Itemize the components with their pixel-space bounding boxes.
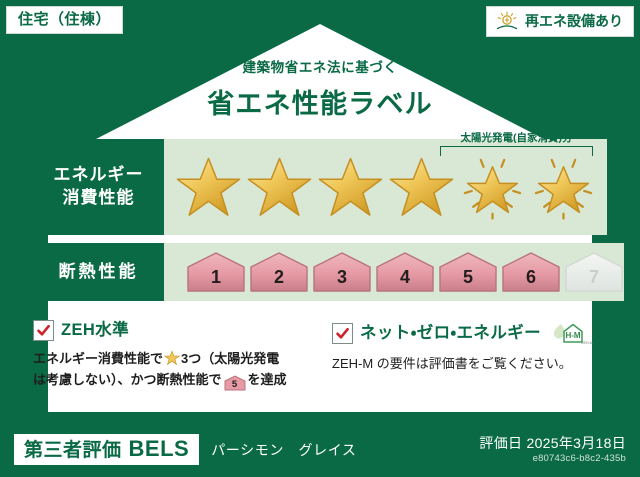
energy-performance-label: 住宅（住棟） 再エネ設備あり 建築物省エネ法に基づく 省エネ性能ラベル [0, 0, 640, 477]
inline-badge-value: 5 [224, 375, 246, 394]
insulation-badge-value: 5 [463, 268, 473, 293]
star-solar [529, 153, 598, 222]
zeh-criterion-header: ZEH水準 [33, 320, 320, 341]
insulation-badge-value: 2 [274, 268, 284, 293]
performance-rows: エネルギー 消費性能 [33, 139, 607, 309]
zeh-criterion: ZEH水準 エネルギー消費性能で3つ（太陽光発電 は考慮しない）、かつ断熱性能で… [33, 320, 320, 391]
insulation-badge-value: 6 [526, 268, 536, 293]
insulation-badge: 5 [438, 251, 498, 293]
building-type-label: 住宅（住棟） [18, 11, 111, 28]
inline-insulation-badge: 5 [224, 375, 246, 391]
net-zero-criterion: ネット・ゼロ・エネルギー H-M ZEH-M ZEH-M の要件は評価書をご覧く… [320, 320, 607, 391]
energy-performance-rating-cell: 太陽光発電(自家消費)分 [164, 139, 607, 235]
star-filled [387, 153, 456, 222]
net-zero-criterion-header: ネット・ゼロ・エネルギー H-M ZEH-M [332, 320, 607, 346]
label-title-block: 建築物省エネ法に基づく 省エネ性能ラベル [0, 56, 640, 121]
building-name: パーシモン グレイス [211, 440, 356, 460]
checkmark-icon [332, 323, 353, 344]
insulation-performance-row: 断熱性能 [33, 243, 607, 301]
insulation-badge-value: 1 [211, 268, 221, 293]
energy-label-line2: 消費性能 [63, 187, 135, 210]
renewable-equipment-chip: 再エネ設備あり [486, 6, 634, 37]
inline-star-icon [164, 350, 180, 366]
zeh-criterion-title: ZEH水準 [61, 322, 129, 339]
zeh-criterion-text: エネルギー消費性能で3つ（太陽光発電 は考慮しない）、かつ断熱性能で5を達成 [33, 348, 320, 391]
title-subtitle: 建築物省エネ法に基づく [0, 56, 640, 76]
label-footer: 第三者評価 BELS パーシモン グレイス 評価日 2025年3月18日 e80… [0, 422, 640, 477]
building-type-chip: 住宅（住棟） [6, 6, 123, 34]
renewable-equipment-label: 再エネ設備あり [525, 14, 623, 28]
evaluation-date: 評価日 2025年3月18日 [479, 435, 626, 453]
insulation-badge: 6 [501, 251, 561, 293]
net-zero-criterion-text: ZEH-M の要件は評価書をご覧ください。 [332, 353, 607, 374]
zeh-text-d: を達成 [248, 372, 287, 387]
star-filled [316, 153, 385, 222]
energy-performance-row: エネルギー 消費性能 [33, 139, 607, 235]
zeh-text-b: 3つ（太陽光発電 [181, 351, 279, 366]
insulation-badge: 1 [186, 251, 246, 293]
svg-text:H-M: H-M [565, 331, 580, 340]
star-filled [245, 153, 314, 222]
insulation-performance-label-cell: 断熱性能 [33, 243, 164, 301]
insulation-rating-cell: 1 2 3 [164, 243, 624, 301]
insulation-badge: 2 [249, 251, 309, 293]
insulation-badge-value: 7 [589, 268, 599, 293]
insulation-badge: 3 [312, 251, 372, 293]
svg-text:ZEH-M: ZEH-M [581, 341, 592, 345]
insulation-badge-value: 4 [400, 268, 410, 293]
energy-performance-label-cell: エネルギー 消費性能 [33, 139, 164, 235]
insulation-label: 断熱性能 [59, 261, 139, 284]
bels-en-label: BELS [129, 438, 190, 460]
checkmark-icon [33, 320, 54, 341]
zeh-text-a: エネルギー消費性能で [33, 351, 163, 366]
evaluation-info: 評価日 2025年3月18日 e80743c6-b8c2-435b [479, 435, 626, 464]
criteria-section: ZEH水準 エネルギー消費性能で3つ（太陽光発電 は考慮しない）、かつ断熱性能で… [33, 320, 607, 391]
zeh-m-logo-icon: H-M ZEH-M [551, 320, 593, 346]
energy-label-line1: エネルギー [54, 164, 144, 187]
net-zero-criterion-title: ネット・ゼロ・エネルギー [360, 325, 541, 342]
sun-icon [495, 11, 519, 31]
bels-jp-label: 第三者評価 [24, 441, 122, 460]
zeh-text-c: は考慮しない）、かつ断熱性能で [33, 372, 222, 387]
star-rating [174, 153, 598, 222]
insulation-badge-inactive: 7 [564, 251, 624, 293]
bels-certification-chip: 第三者評価 BELS [14, 434, 199, 465]
title-main: 省エネ性能ラベル [0, 82, 640, 121]
star-filled [174, 153, 243, 222]
star-solar [458, 153, 527, 222]
insulation-badge-value: 3 [337, 268, 347, 293]
evaluation-uid: e80743c6-b8c2-435b [479, 453, 626, 464]
insulation-level-badges: 1 2 3 [186, 251, 624, 293]
insulation-badge: 4 [375, 251, 435, 293]
